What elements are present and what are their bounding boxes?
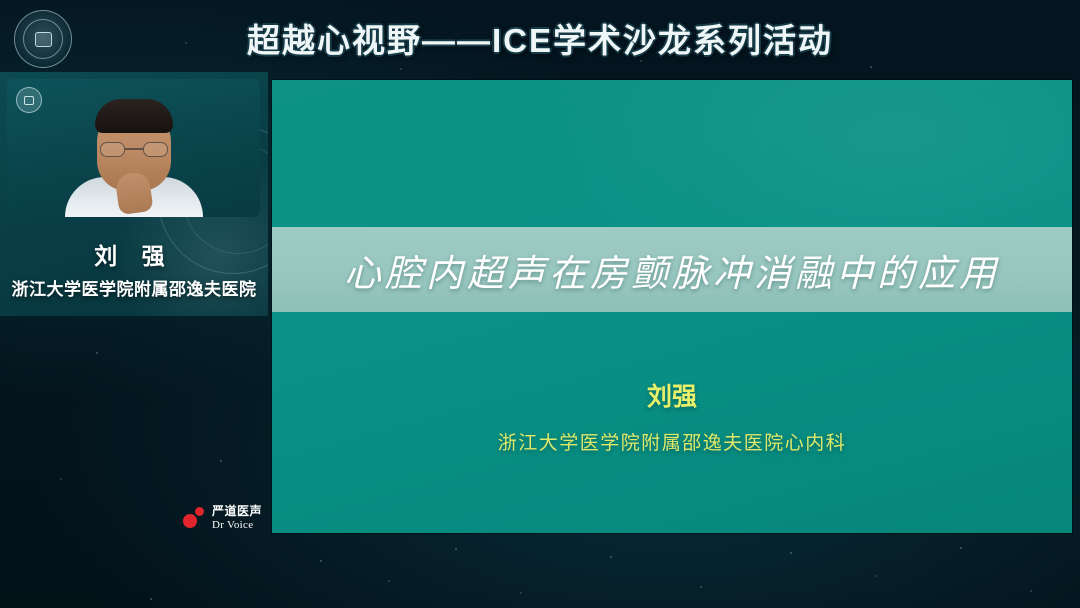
brand-name-en: Dr Voice — [212, 519, 262, 531]
star-dot — [455, 548, 457, 550]
slide-title: 心腔内超声在房颤脉冲消融中的应用 — [344, 243, 1000, 297]
star-dot — [320, 560, 322, 562]
star-dot — [520, 592, 522, 594]
brand-name-cn: 严道医声 — [212, 505, 262, 518]
star-dot — [875, 575, 877, 577]
brand-watermark: 严道医声 Dr Voice — [183, 496, 273, 540]
star-dot — [220, 460, 222, 462]
video-emblem-icon — [16, 87, 42, 113]
broadcast-stage: 超越心视野——ICE学术沙龙系列活动 刘 强 浙江大学医学院附属邵逸夫医院 心腔… — [0, 0, 1080, 608]
star-dot — [150, 598, 152, 600]
glasses-icon — [100, 142, 168, 157]
star-dot — [96, 352, 98, 354]
star-dot — [610, 556, 612, 558]
slide-title-band: 心腔内超声在房颤脉冲消融中的应用 — [272, 227, 1072, 312]
speaker-affiliation: 浙江大学医学院附属邵逸夫医院 — [0, 275, 268, 300]
slide-presenter-department: 浙江大学医学院附属邵逸夫医院心内科 — [272, 428, 1072, 455]
header-bar: 超越心视野——ICE学术沙龙系列活动 — [0, 0, 1080, 76]
speaker-video-feed[interactable] — [7, 79, 260, 217]
speaker-panel: 刘 强 浙江大学医学院附属邵逸夫医院 — [0, 72, 268, 316]
star-dot — [1030, 590, 1032, 592]
presentation-slide[interactable]: 心腔内超声在房颤脉冲消融中的应用 刘强 浙江大学医学院附属邵逸夫医院心内科 — [272, 80, 1072, 533]
event-title: 超越心视野——ICE学术沙龙系列活动 — [0, 14, 1080, 62]
slide-presenter-name: 刘强 — [272, 377, 1072, 413]
speaker-name: 刘 强 — [0, 237, 268, 271]
star-dot — [388, 580, 390, 582]
brand-text: 严道医声 Dr Voice — [212, 505, 262, 531]
star-dot — [60, 478, 62, 480]
star-dot — [790, 552, 792, 554]
drvoice-logo-icon — [183, 507, 207, 529]
star-dot — [700, 586, 702, 588]
speaker-hair — [95, 99, 173, 133]
star-dot — [960, 547, 962, 549]
